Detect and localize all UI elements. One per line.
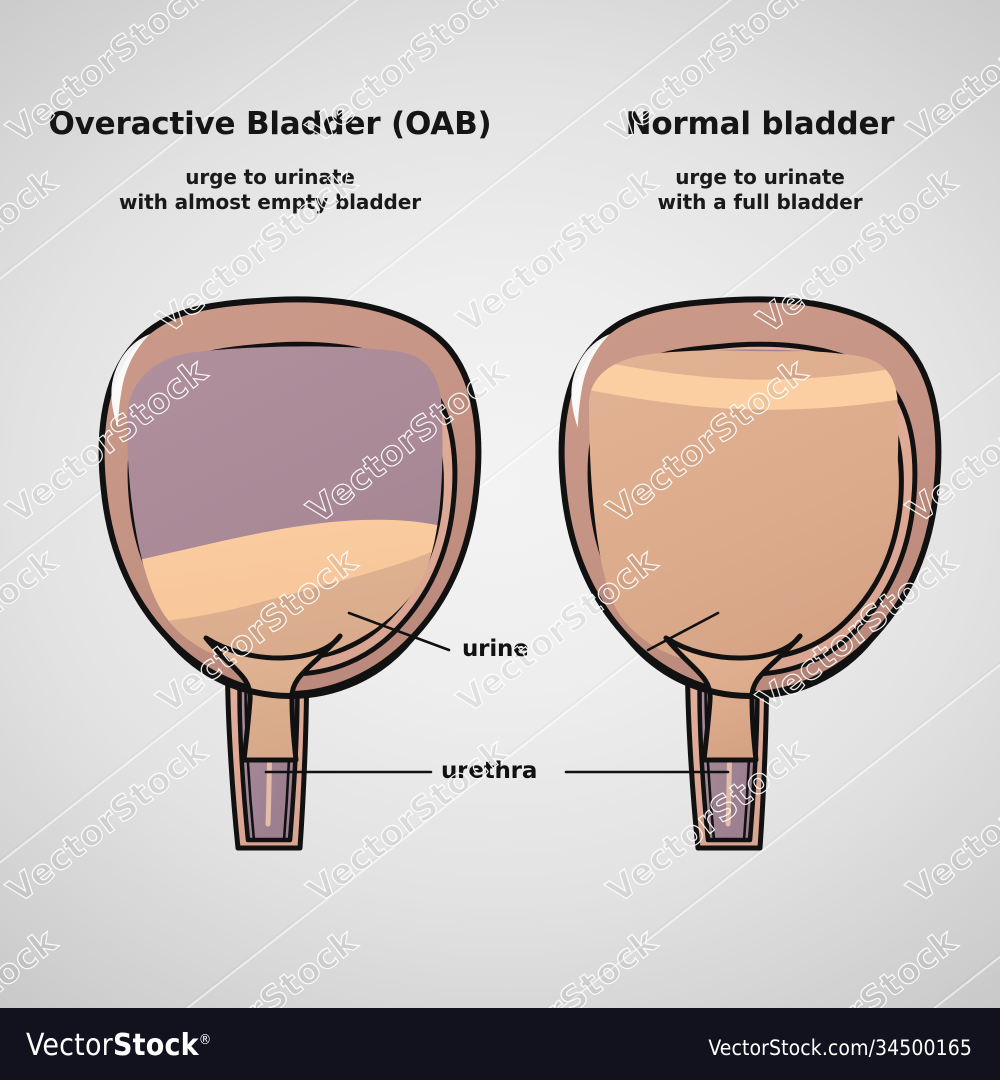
left-panel-heading-group: Overactive Bladder (OAB) urge to urinate… [30, 108, 510, 216]
right-panel-heading-group: Normal bladder urge to urinate with a fu… [540, 108, 980, 216]
right-bladder-diagram [560, 299, 940, 848]
left-bladder-cavity-contents [100, 330, 480, 700]
footer-url: VectorStock.com/34500165 [708, 1036, 972, 1060]
left-subtitle-line-2: with almost empty bladder [30, 190, 510, 216]
logo-text-part1: Vector [26, 1028, 113, 1063]
left-panel-title: Overactive Bladder (OAB) [30, 108, 510, 141]
vectorstock-logo: VectorStock® [26, 1028, 212, 1063]
right-subtitle-line-1: urge to urinate [540, 165, 980, 191]
footer-bar: VectorStock® VectorStock.com/34500165 [0, 1008, 1000, 1080]
right-panel-title: Normal bladder [540, 108, 980, 141]
urethra-label: urethra [441, 758, 537, 784]
left-subtitle-line-1: urge to urinate [30, 165, 510, 191]
right-bladder-cavity-contents [560, 330, 940, 710]
left-bladder-diagram [100, 299, 480, 848]
registered-trademark-icon: ® [199, 1032, 212, 1048]
right-subtitle-line-2: with a full bladder [540, 190, 980, 216]
urine-label: urine [462, 636, 529, 662]
illustration-canvas: Overactive Bladder (OAB) urge to urinate… [0, 0, 1000, 1080]
left-panel-subtitle: urge to urinate with almost empty bladde… [30, 165, 510, 216]
right-panel-subtitle: urge to urinate with a full bladder [540, 165, 980, 216]
logo-text-part2: Stock [113, 1028, 199, 1063]
